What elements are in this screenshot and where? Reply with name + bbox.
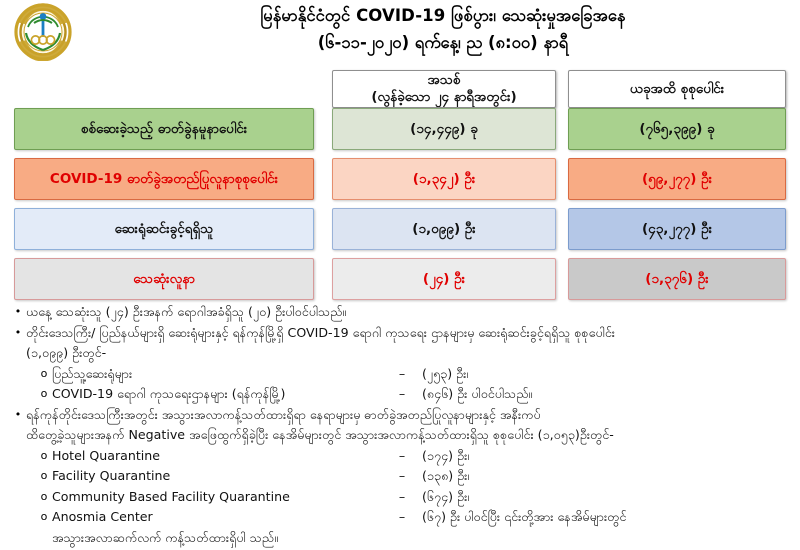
dash-separator: –: [382, 364, 422, 385]
bullet-icon: •: [10, 405, 26, 426]
note-continuation: အသွားအလာဆက်လက် ကန့်သတ်ထားရှိပါ သည်။: [0, 528, 800, 549]
subitem-label-anosmia-center: Anosmia Center: [52, 507, 382, 528]
row-total-confirmed: (၅၉,၂၇၇) ဦး: [568, 158, 786, 200]
circle-bullet-icon: o: [36, 384, 52, 405]
note-subitem: o ပြည်သူ့ဆေးရုံများ – (၂၅၃) ဦး၊: [0, 364, 800, 385]
column-spacer: [556, 158, 568, 208]
dash-separator: –: [382, 507, 422, 528]
subitem-label-public-hospitals: ပြည်သူ့ဆေးရုံများ: [52, 364, 382, 385]
row-label-tests: စစ်ဆေးခဲ့သည့် ဓာတ်ခွဲနမူနာပေါင်း: [14, 108, 314, 150]
note-text-discharged-line2: (၁,၀၉၉) ဦးတွင်-: [26, 343, 800, 364]
subitem-value-anosmia-center: (၆၇) ဦး ပါဝင်ပြီး ၎င်းတို့အား နေအိမ်များ…: [422, 507, 800, 528]
dash-separator: –: [382, 384, 422, 405]
table-header-row: အသစ် (လွန်ခဲ့သော ၂၄ နာရီအတွင်း) ယခုအထိ စ…: [0, 62, 800, 108]
note-text-discharged-line1-wrap: တိုင်းဒေသကြီး/ ပြည်နယ်များရှိ ဆေးရုံများ…: [26, 323, 800, 344]
note-text-quarantine-line1: ရန်ကုန်တိုင်းဒေသကြီးအတွင်း အသွားအလာကန့်သ…: [26, 405, 800, 426]
row-total-deaths: (၁,၃၇၆) ဦး: [568, 258, 786, 300]
note-subitem: o Hotel Quarantine – (၁၇၄) ဦး၊: [0, 446, 800, 467]
summary-table: အသစ် (လွန်ခဲ့သော ၂၄ နာရီအတွင်း) ယခုအထိ စ…: [0, 62, 800, 308]
row-total-discharged: (၄၃,၂၇၇) ဦး: [568, 208, 786, 250]
column-spacer: [314, 158, 332, 208]
page-header: မြန်မာနိုင်ငံတွင် COVID-19 ဖြစ်ပွား၊ သေဆ…: [0, 0, 800, 62]
row-label-confirmed: COVID-19 ဓာတ်ခွဲအတည်ပြုလူနာစုစုပေါင်း: [14, 158, 314, 200]
row-new-confirmed: (၁,၃၄၂) ဦး: [332, 158, 556, 200]
page-title: မြန်မာနိုင်ငံတွင် COVID-19 ဖြစ်ပွား၊ သေဆ…: [96, 2, 790, 29]
bullet-icon: •: [10, 323, 26, 344]
note-text-discharged-line1: တိုင်းဒေသကြီး/ ပြည်နယ်များရှိ ဆေးရုံများ…: [26, 323, 615, 344]
dash-separator: –: [382, 446, 422, 467]
circle-bullet-icon: o: [36, 487, 52, 508]
column-spacer: [556, 208, 568, 258]
ministry-logo: [14, 3, 72, 61]
note-subitem: o COVID-19 ရောဂါ ကုသရေးဌာနများ (ရန်ကုန်မ…: [0, 384, 800, 405]
subitem-label-community-quarantine: Community Based Facility Quarantine: [52, 487, 382, 508]
circle-bullet-icon: o: [36, 507, 52, 528]
subitem-value-hotel-quarantine: (၁၇၄) ဦး၊: [422, 446, 800, 467]
header-new-cases: အသစ် (လွန်ခဲ့သော ၂၄ နာရီအတွင်း): [332, 70, 556, 108]
dash-separator: –: [382, 466, 422, 487]
circle-bullet-icon: o: [36, 446, 52, 467]
circle-bullet-icon: o: [36, 364, 52, 385]
title-block: မြန်မာနိုင်ငံတွင် COVID-19 ဖြစ်ပွား၊ သေဆ…: [96, 2, 790, 57]
note-item: • ရန်ကုန်တိုင်းဒေသကြီးအတွင်း အသွားအလာကန့…: [0, 405, 800, 446]
column-spacer: [556, 108, 568, 158]
note-text-anosmia-continuation: အသွားအလာဆက်လက် ကန့်သတ်ထားရှိပါ သည်။: [16, 528, 800, 549]
row-new-deaths: (၂၄) ဦး: [332, 258, 556, 300]
header-new-line1: အသစ်: [427, 72, 460, 89]
subitem-value-community-quarantine: (၆၇၄) ဦး၊: [422, 487, 800, 508]
subitem-value-public-hospitals: (၂၅၃) ဦး၊: [422, 364, 800, 385]
page-title-date: (၆-၁၁-၂၀၂၀) ရက်နေ့၊ ည (၈:၀၀) နာရီ: [96, 29, 790, 57]
note-subitem: o Facility Quarantine – (၁၃၈) ဦး၊: [0, 466, 800, 487]
column-spacer: [314, 108, 332, 158]
table-row: စစ်ဆေးခဲ့သည့် ဓာတ်ခွဲနမူနာပေါင်း (၁၄,၄၄၉…: [0, 108, 800, 158]
table-row: COVID-19 ဓာတ်ခွဲအတည်ပြုလူနာစုစုပေါင်း (၁…: [0, 158, 800, 208]
dash-separator: –: [382, 487, 422, 508]
row-label-discharged: ဆေးရုံဆင်းခွင့်ရရှိသူ: [14, 208, 314, 250]
note-item: • တိုင်းဒေသကြီး/ ပြည်နယ်များရှိ ဆေးရုံမျ…: [0, 323, 800, 364]
note-text-quarantine-line2: ထိတွေ့ခဲ့သူများအနက် Negative အဖြေထွက်ရှိ…: [26, 425, 800, 446]
subitem-label-facility-quarantine: Facility Quarantine: [52, 466, 382, 487]
row-new-tests: (၁၄,၄၄၉) ခု: [332, 108, 556, 150]
column-spacer: [314, 208, 332, 258]
column-spacer: [556, 258, 568, 308]
column-spacer: [314, 258, 332, 308]
subitem-label-hotel-quarantine: Hotel Quarantine: [52, 446, 382, 467]
header-new-line2: (လွန်ခဲ့သော ၂၄ နာရီအတွင်း): [371, 89, 516, 106]
note-item: • ယနေ့ သေဆုံးသူ (၂၄) ဦးအနက် ရောဂါအခံရှိသ…: [0, 302, 800, 323]
note-text-deaths: ယနေ့ သေဆုံးသူ (၂၄) ဦးအနက် ရောဂါအခံရှိသူ …: [26, 302, 800, 323]
note-subitem: o Anosmia Center – (၆၇) ဦး ပါဝင်ပြီး ၎င်…: [0, 507, 800, 528]
row-label-deaths: သေဆုံးလူနာ: [14, 258, 314, 300]
table-row: သေဆုံးလူနာ (၂၄) ဦး (၁,၃၇၆) ဦး: [0, 258, 800, 308]
notes-section: • ယနေ့ သေဆုံးသူ (၂၄) ဦးအနက် ရောဂါအခံရှိသ…: [0, 302, 800, 548]
note-subitem: o Community Based Facility Quarantine – …: [0, 487, 800, 508]
row-new-discharged: (၁,၀၉၉) ဦး: [332, 208, 556, 250]
row-total-tests: (၇၆၅,၃၉၉) ခု: [568, 108, 786, 150]
header-total: ယခုအထိ စုစုပေါင်း: [568, 70, 786, 108]
subitem-value-facility-quarantine: (၁၃၈) ဦး၊: [422, 466, 800, 487]
table-row: ဆေးရုံဆင်းခွင့်ရရှိသူ (၁,၀၉၉) ဦး (၄၃,၂၇၇…: [0, 208, 800, 258]
bullet-icon: •: [10, 302, 26, 323]
subitem-value-covid-centers: (၈၄၆) ဦး ပါဝင်ပါသည်။: [422, 384, 800, 405]
subitem-label-covid-centers: COVID-19 ရောဂါ ကုသရေးဌာနများ (ရန်ကုန်မြိ…: [52, 384, 382, 405]
circle-bullet-icon: o: [36, 466, 52, 487]
